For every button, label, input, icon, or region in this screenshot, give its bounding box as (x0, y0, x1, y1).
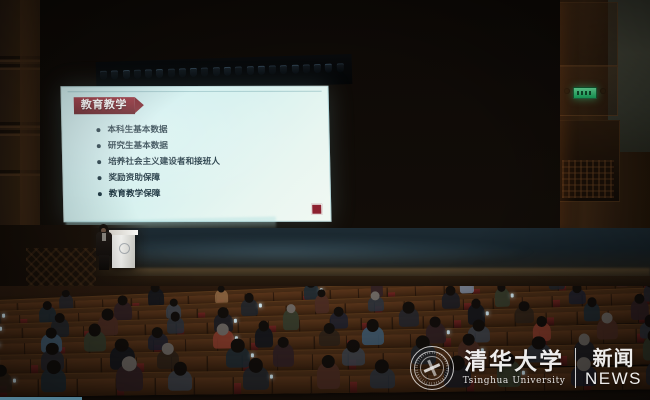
audience-head (248, 358, 263, 373)
audience-member (548, 286, 565, 290)
stage-light (201, 67, 208, 76)
audience-head (532, 336, 546, 350)
stage-light (100, 71, 107, 80)
stage-light (179, 68, 186, 77)
stage-light (156, 69, 163, 78)
stage-light (291, 65, 298, 74)
seat (194, 377, 233, 395)
audience-head (366, 319, 379, 332)
seat-cushion (560, 356, 567, 366)
phone-screen (521, 371, 524, 375)
stage-light (336, 63, 343, 72)
phone-screen (259, 304, 262, 308)
stage-light (190, 68, 197, 77)
seat-cushion (234, 383, 241, 394)
slide-title-text: 教育教学 (81, 100, 127, 111)
audience-head (403, 302, 415, 314)
phone-screen (510, 294, 513, 298)
stage-light (122, 70, 129, 79)
slide-top-rule (68, 91, 322, 92)
stage-floor-reflection (110, 236, 540, 268)
slide-bullet-item: 研究生基本数据 (97, 141, 317, 151)
audience-head (462, 333, 474, 345)
audience-head (587, 298, 596, 307)
slide-title-ribbon: 教育教学 (74, 97, 135, 114)
phone-screen (2, 314, 5, 318)
slide-bullet-item: 培养社会主义建设者和接班人 (97, 157, 317, 167)
audience-head (578, 334, 590, 346)
stage-light (269, 65, 276, 74)
exit-sign-icon (573, 87, 597, 99)
audience-head (217, 323, 229, 335)
seat (77, 378, 116, 396)
seat (484, 313, 515, 327)
slide-bullet-item: 奖励资助保障 (97, 173, 317, 183)
stage-light (145, 69, 152, 78)
stage-light (314, 64, 321, 73)
audience-head (347, 339, 360, 352)
seat (272, 376, 311, 394)
slide-bullet-list: 本科生基本数据研究生基本数据培养社会主义建设者和接班人奖励资助保障教育教学保障 (96, 125, 318, 206)
phone-screen (481, 349, 484, 353)
podium (112, 233, 135, 268)
podium-emblem-icon (119, 243, 130, 254)
audience-member (645, 361, 650, 385)
stage-light (111, 70, 118, 79)
audience-head (102, 309, 114, 321)
stage-light (258, 66, 265, 75)
stage-light (303, 64, 310, 73)
audience-seating (0, 286, 650, 400)
stage-light (280, 65, 287, 74)
slide-bullet-item: 教育教学保障 (98, 189, 318, 199)
stage-light (325, 64, 332, 73)
stage-light (134, 70, 141, 79)
audience-member (459, 286, 473, 294)
audience-head (46, 342, 59, 355)
stage-light (235, 66, 242, 75)
projection-screen: 教育教学 本科生基本数据研究生基本数据培养社会主义建设者和接班人奖励资助保障教育… (60, 86, 331, 222)
slide-bullet-item: 本科生基本数据 (96, 125, 316, 135)
stage-light (246, 66, 253, 75)
speaker-person (96, 224, 113, 269)
stage-light (224, 67, 231, 76)
phone-screen (486, 311, 489, 315)
audience-head (231, 339, 245, 353)
audience-head (259, 321, 270, 332)
stage-light (213, 67, 220, 76)
seat-cushion (350, 382, 357, 393)
slide-corner-logo (311, 204, 322, 215)
stage-left-lattice (26, 248, 96, 290)
seat (594, 349, 629, 365)
phone-screen (270, 375, 273, 379)
audience-head (88, 323, 101, 336)
photograph-frame: 学术报告 清华大学教职工第八届、工会会员第二十届 代表大会第十一次会议 教育教学… (0, 0, 650, 400)
phone-screen (13, 379, 16, 383)
presentation-slide: 教育教学 本科生基本数据研究生基本数据培养社会主义建设者和接班人奖励资助保障教育… (60, 86, 331, 222)
audience-head (173, 362, 187, 376)
audience-head (43, 301, 52, 310)
stage-light (167, 69, 174, 78)
phone-screen (446, 330, 449, 334)
